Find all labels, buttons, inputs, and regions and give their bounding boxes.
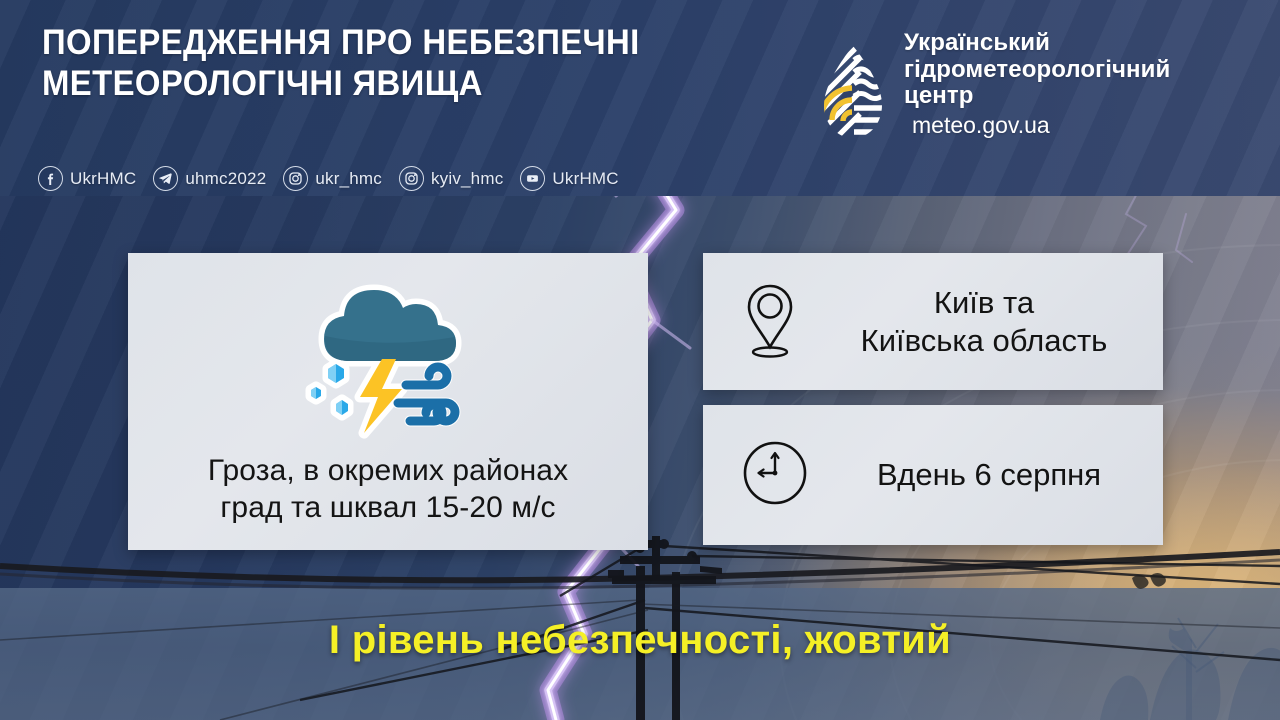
brand-website: meteo.gov.ua	[912, 112, 1170, 139]
brand-line-3: центр	[904, 83, 1170, 110]
time-period-line-1: Вдень 6 серпня	[833, 456, 1145, 494]
region-name-line-1: Київ та	[823, 284, 1145, 322]
social-link-instagram-kyiv[interactable]: kyiv_hmc	[399, 166, 503, 191]
danger-level-banner: І рівень небезпечності, жовтий	[0, 618, 1280, 663]
region-name: Київ та Київська область	[823, 284, 1163, 360]
instagram-icon	[399, 166, 424, 191]
thunderstorm-hail-wind-icon	[278, 273, 498, 448]
social-link-instagram-ukr[interactable]: ukr_hmc	[283, 166, 382, 191]
hazard-description-line-2: град та шквал 15-20 м/с	[208, 489, 568, 526]
water-droplet-radar-logo-icon	[816, 44, 890, 142]
hazard-description-line-1: Гроза, в окремих районах	[208, 452, 568, 489]
brand-line-1: Український	[904, 30, 1170, 57]
page-title: ПОПЕРЕДЖЕННЯ ПРО НЕБЕЗПЕЧНІ МЕТЕОРОЛОГІЧ…	[42, 22, 766, 104]
social-handle-facebook: UkrHMC	[70, 169, 136, 189]
social-links-row: UkrHMC uhmc2022 ukr_hmc	[38, 166, 627, 191]
telegram-icon	[153, 166, 178, 191]
social-link-facebook[interactable]: UkrHMC	[38, 166, 136, 191]
weather-warning-poster: ПОПЕРЕДЖЕННЯ ПРО НЕБЕЗПЕЧНІ МЕТЕОРОЛОГІЧ…	[0, 0, 1280, 720]
map-pin-icon	[739, 279, 801, 364]
facebook-icon	[38, 166, 63, 191]
page-title-line-1: ПОПЕРЕДЖЕННЯ ПРО НЕБЕЗПЕЧНІ	[42, 22, 766, 63]
social-link-youtube[interactable]: UkrHMC	[520, 166, 618, 191]
youtube-icon	[520, 166, 545, 191]
region-card: Київ та Київська область	[703, 253, 1163, 390]
hazard-description: Гроза, в окремих районах град та шквал 1…	[208, 452, 568, 526]
social-link-telegram[interactable]: uhmc2022	[153, 166, 266, 191]
time-period: Вдень 6 серпня	[833, 456, 1163, 494]
social-handle-telegram: uhmc2022	[185, 169, 266, 189]
brand-name: Український гідрометеорологічний центр m…	[904, 30, 1170, 139]
hazard-card: Гроза, в окремих районах град та шквал 1…	[128, 253, 648, 550]
clock-icon	[739, 437, 811, 514]
instagram-icon	[283, 166, 308, 191]
brand-block: Український гідрометеорологічний центр m…	[816, 30, 1170, 142]
region-name-line-2: Київська область	[823, 322, 1145, 360]
brand-line-2: гідрометеорологічний	[904, 57, 1170, 84]
social-handle-youtube: UkrHMC	[552, 169, 618, 189]
page-title-line-2: МЕТЕОРОЛОГІЧНІ ЯВИЩА	[42, 63, 766, 104]
social-handle-instagram-ukr: ukr_hmc	[315, 169, 382, 189]
social-handle-instagram-kyiv: kyiv_hmc	[431, 169, 503, 189]
time-card: Вдень 6 серпня	[703, 405, 1163, 545]
